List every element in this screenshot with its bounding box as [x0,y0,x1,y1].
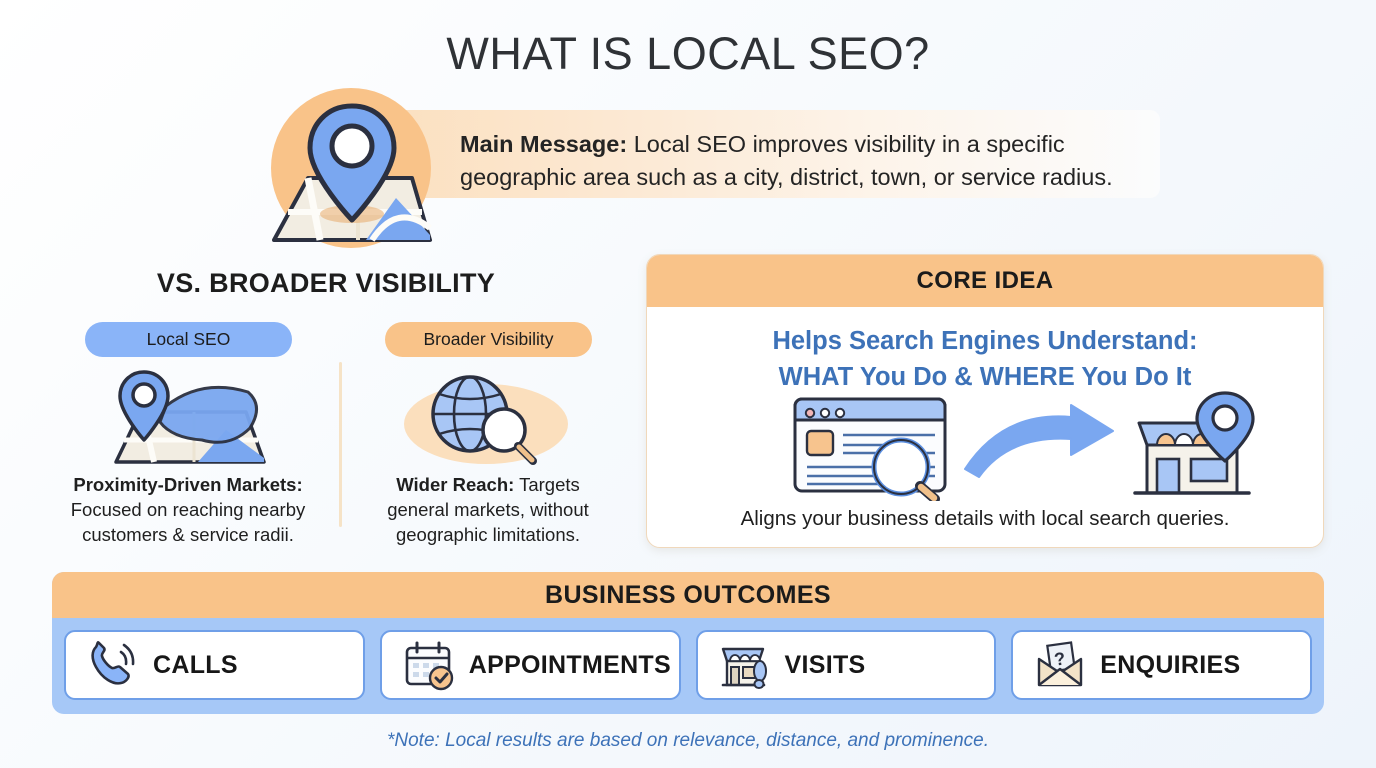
outcome-label-visits: VISITS [785,651,866,680]
phone-call-icon [86,639,140,691]
outcome-card-calls[interactable]: CALLS [64,630,365,700]
infographic-canvas: WHAT IS LOCAL SEO? Main Message: Local S… [0,0,1376,768]
comparison-text-broader: Wider Reach: Targets general markets, wi… [363,472,613,547]
business-outcomes-panel: BUSINESS OUTCOMES CALLS [52,572,1324,714]
comparison-divider [339,362,342,527]
core-idea-headline-line1: Helps Search Engines Understand: [647,323,1323,359]
outcome-label-calls: CALLS [153,651,238,680]
curved-arrow-icon [965,405,1113,477]
core-idea-headline-line2: WHAT You Do & WHERE You Do It [647,359,1323,395]
map-pin-icon [262,80,442,250]
pill-broader-visibility: Broader Visibility [385,322,592,357]
outcome-card-appointments[interactable]: APPOINTMENTS [380,630,681,700]
outcome-card-visits[interactable]: VISITS [696,630,997,700]
main-message-text: Main Message: Local SEO improves visibil… [460,128,1160,194]
page-title: WHAT IS LOCAL SEO? [0,28,1376,80]
outcome-label-appointments: APPOINTMENTS [469,651,671,680]
comparison-label-broader: Wider Reach: [396,474,514,495]
calendar-check-icon [402,639,456,691]
comparison-text-local: Proximity-Driven Markets: Focused on rea… [63,472,313,547]
globe-search-icon [398,366,578,471]
core-idea-illustration [647,391,1324,501]
storefront-pin-icon [1135,393,1253,493]
envelope-question-icon: ? [1033,639,1087,691]
core-idea-header: CORE IDEA [647,255,1323,307]
browser-search-icon [795,399,945,499]
map-service-area-icon [98,366,278,471]
comparison-label-local: Proximity-Driven Markets: [73,474,302,495]
outcome-card-enquiries[interactable]: ? ENQUIRIES [1011,630,1312,700]
business-outcomes-header: BUSINESS OUTCOMES [52,572,1324,618]
business-outcomes-row: CALLS APPOINTMENTS [52,618,1324,714]
core-idea-headline: Helps Search Engines Understand: WHAT Yo… [647,323,1323,395]
core-idea-card: CORE IDEA Helps Search Engines Understan… [646,254,1324,548]
footnote: *Note: Local results are based on releva… [0,730,1376,752]
main-message-label: Main Message: [460,131,627,157]
comparison-heading: VS. BROADER VISIBILITY [36,268,616,299]
pill-local-seo: Local SEO [85,322,292,357]
storefront-footprint-icon [718,639,772,691]
outcome-label-enquiries: ENQUIRIES [1100,651,1240,680]
comparison-body-local: Focused on reaching nearby customers & s… [71,499,305,545]
core-idea-caption: Aligns your business details with local … [647,507,1323,531]
